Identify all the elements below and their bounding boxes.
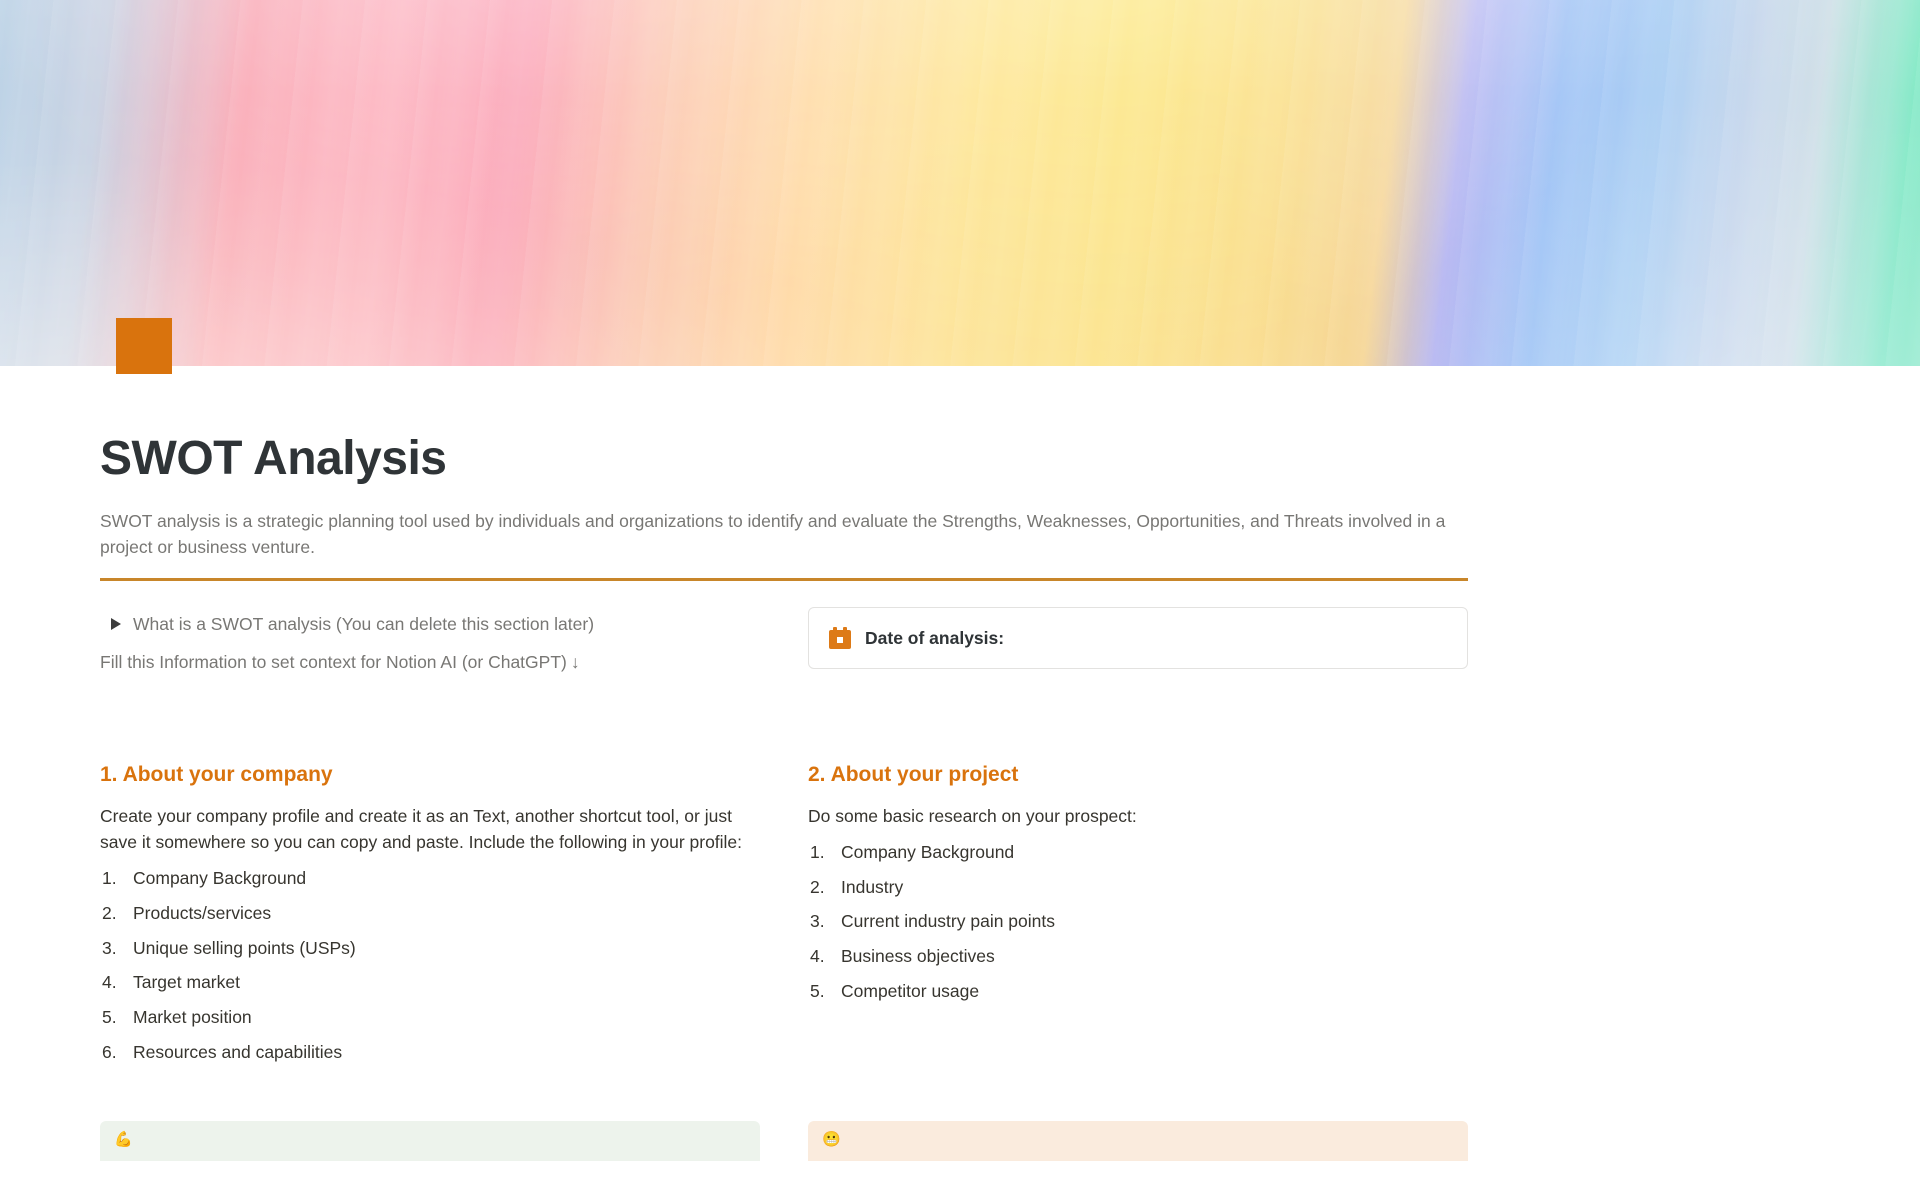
section-columns: 1. About your company Create your compan… <box>100 701 1468 1065</box>
strengths-emoji-icon: 💪 <box>114 1131 133 1148</box>
toggle-what-is-swot[interactable]: What is a SWOT analysis (You can delete … <box>100 607 796 641</box>
page-icon[interactable] <box>116 318 172 374</box>
section-2-heading[interactable]: 2. About your project <box>808 761 1468 788</box>
fill-info-text[interactable]: Fill this Information to set context for… <box>100 649 796 675</box>
triangle-right-icon[interactable] <box>111 618 121 630</box>
section-company: 1. About your company Create your compan… <box>100 701 808 1065</box>
page-description[interactable]: SWOT analysis is a strategic planning to… <box>100 508 1468 561</box>
list-item[interactable]: Company Background <box>100 865 796 891</box>
list-item[interactable]: Unique selling points (USPs) <box>100 935 796 961</box>
section-1: 1. About your company Create your compan… <box>100 761 796 1065</box>
top-right-column: Date of analysis: <box>808 607 1468 675</box>
weaknesses-emoji-icon: 😬 <box>822 1131 841 1148</box>
horizontal-divider <box>100 578 1468 581</box>
section-1-heading[interactable]: 1. About your company <box>100 761 796 788</box>
strengths-callout[interactable]: 💪 <box>100 1121 760 1161</box>
top-columns: What is a SWOT analysis (You can delete … <box>100 607 1468 675</box>
page-content: SWOT Analysis SWOT analysis is a strateg… <box>0 366 1920 1161</box>
cover-gradient-sheen <box>0 0 1920 366</box>
list-item[interactable]: Current industry pain points <box>808 908 1468 934</box>
list-item[interactable]: Resources and capabilities <box>100 1039 796 1065</box>
section-project: 2. About your project Do some basic rese… <box>808 701 1468 1065</box>
section-1-list: Company Background Products/services Uni… <box>100 865 796 1065</box>
cover-image[interactable] <box>0 0 1920 366</box>
callout-label: Date of analysis: <box>865 628 1004 649</box>
section-2: 2. About your project Do some basic rese… <box>808 761 1468 1004</box>
list-item[interactable]: Target market <box>100 969 796 995</box>
section-1-paragraph[interactable]: Create your company profile and create i… <box>100 803 760 856</box>
date-of-analysis-callout[interactable]: Date of analysis: <box>808 607 1468 669</box>
list-item[interactable]: Competitor usage <box>808 978 1468 1004</box>
list-item[interactable]: Market position <box>100 1004 796 1030</box>
section-2-list: Company Background Industry Current indu… <box>808 839 1468 1004</box>
section-2-paragraph[interactable]: Do some basic research on your prospect: <box>808 803 1468 829</box>
list-item[interactable]: Business objectives <box>808 943 1468 969</box>
page-title[interactable]: SWOT Analysis <box>100 366 1470 488</box>
calendar-icon <box>829 627 851 649</box>
bottom-callouts: 💪 😬 <box>100 1121 1468 1161</box>
weaknesses-callout[interactable]: 😬 <box>808 1121 1468 1161</box>
list-item[interactable]: Company Background <box>808 839 1468 865</box>
arrow-down-icon: ↓ <box>571 652 580 672</box>
page-body: SWOT Analysis SWOT analysis is a strateg… <box>0 366 1920 1161</box>
list-item[interactable]: Products/services <box>100 900 796 926</box>
content-inner: SWOT Analysis SWOT analysis is a strateg… <box>100 366 1470 1161</box>
fill-info-label: Fill this Information to set context for… <box>100 652 567 672</box>
toggle-label: What is a SWOT analysis (You can delete … <box>133 611 594 637</box>
top-left-column: What is a SWOT analysis (You can delete … <box>100 607 808 675</box>
list-item[interactable]: Industry <box>808 874 1468 900</box>
